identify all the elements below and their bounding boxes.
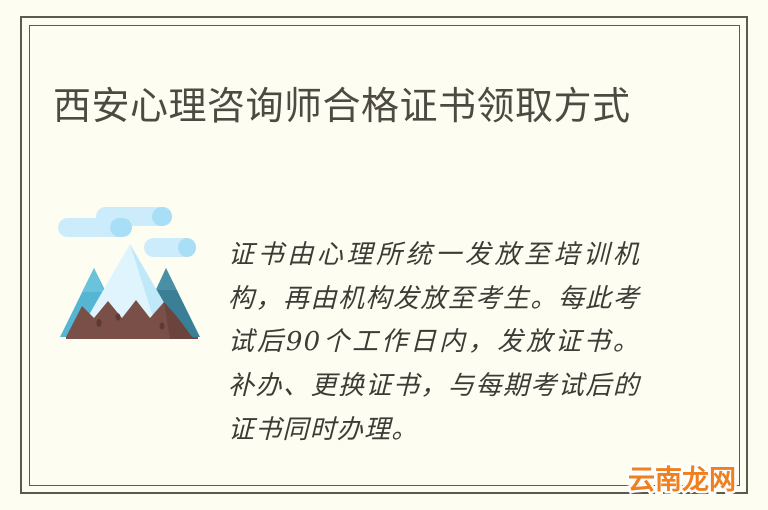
rock-dot — [160, 322, 165, 329]
article-page: 西安心理咨询师合格证书领取方式 — [0, 0, 768, 510]
page-title: 西安心理咨询师合格证书领取方式 — [53, 81, 663, 133]
watermark-fill: 云南龙网 — [628, 466, 736, 496]
mountain-illustration — [52, 200, 212, 370]
peak-right-highlight — [156, 268, 176, 290]
rock-dot — [96, 319, 101, 327]
rock-dot — [116, 313, 121, 320]
watermark: 云南龙网 云南龙网 — [628, 466, 748, 500]
article-body-text: 证书由心理所统一发放至培训机构，再由机构发放至考生。每此考试后90个工作日内，发… — [228, 234, 640, 452]
peak-left-highlight — [82, 268, 104, 292]
